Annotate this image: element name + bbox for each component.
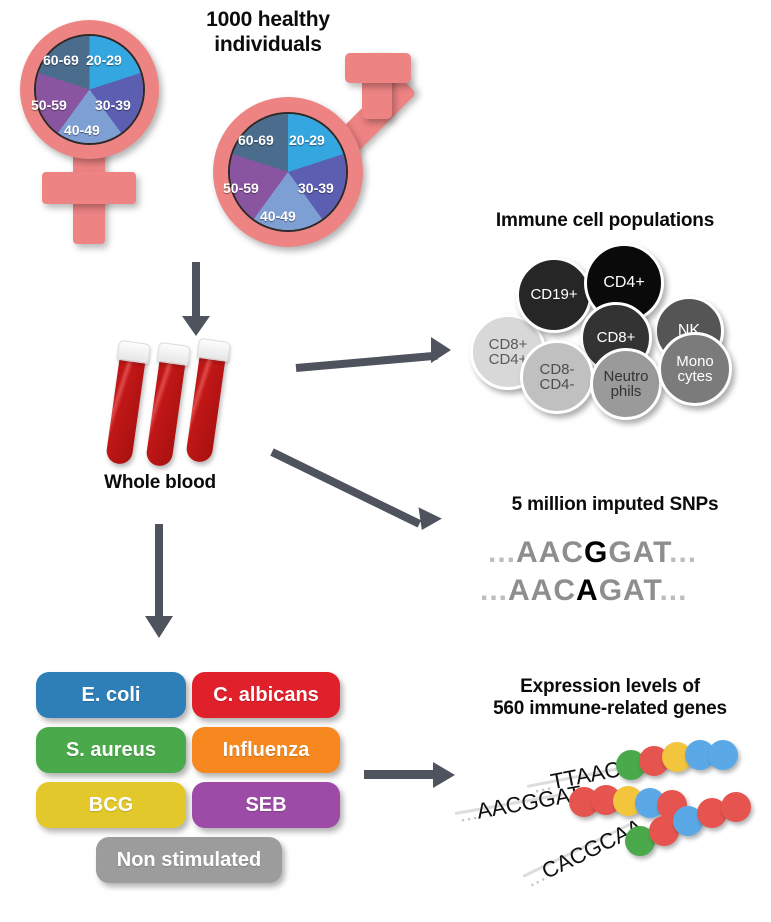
female-pie-label-30-39: 30-39 [95,97,131,113]
immune-cell-line: CD8- [539,362,574,377]
male-pie-label-30-39: 30-39 [298,180,334,196]
stimulation-pill-bcg[interactable]: BCG [36,782,186,828]
expression-bead [721,792,751,822]
snp-trail: ... [659,574,687,607]
immune-cell-line: Mono [676,354,714,369]
immune-cell-cd19p: CD19+ [516,257,592,333]
female-pie-label-50-59: 50-59 [31,97,67,113]
snp-trail: ... [669,536,697,569]
arrow-head [433,762,455,788]
immune-cell-line: CD8+ [597,330,636,345]
immune-cell-line: CD19+ [530,287,577,302]
male-symbol-arrow-head-side [345,53,411,83]
immune-cell-neutrophils: Neutrophils [590,348,662,420]
stimulation-panel: E. coli C. albicans S. aureus Influenza … [32,672,342,892]
female-pie-label-60-69: 60-69 [43,52,79,68]
blood-tube-body [185,349,226,464]
snp-heading: 5 million imputed SNPs [470,494,760,516]
male-pie-label-20-29: 20-29 [289,132,325,148]
snp-sequences: ...AACGGAT... ...AACAGAT... [470,530,760,620]
expression-bead [708,740,738,770]
expression-heading-line1: Expression levels of [455,676,765,698]
immune-cell-line: phils [603,384,648,399]
snp-row: ...AACAGAT... [480,574,687,608]
stimulation-pill-label: S. aureus [66,739,156,762]
female-pie-label-20-29: 20-29 [86,52,122,68]
blood-tube-body [105,351,146,466]
stimulation-pill-label: C. albicans [213,684,319,707]
arrow-shaft [192,262,200,320]
snp-lead: ... [480,574,508,607]
snp-lead: ... [488,536,516,569]
expression-strands: ...TTAACGG ...AACGGAT ...CACGCAA [455,740,771,915]
figure-canvas: 1000 healthy individuals 20-29 30-39 40-… [0,0,771,922]
female-pie-label-40-49: 40-49 [64,122,100,138]
snp-row: ...AACGGAT... [488,536,697,570]
strand-sequence: ...AACGGAT [457,781,584,828]
whole-blood-label: Whole blood [85,472,235,494]
expression-heading: Expression levels of 560 immune-related … [455,676,765,721]
stimulation-pill-label: SEB [245,794,286,817]
stimulation-pill-label: BCG [89,794,133,817]
immune-cell-line: CD4- [539,377,574,392]
immune-cell-line: cytes [676,369,714,384]
immune-cell-line: CD8+ [489,337,528,352]
blood-tube [103,340,148,477]
stimulation-pill-c-albicans[interactable]: C. albicans [192,672,340,718]
male-pie-label-60-69: 60-69 [238,132,274,148]
immune-heading: Immune cell populations [455,210,755,232]
stimulation-pill-e-coli[interactable]: E. coli [36,672,186,718]
snp-prefix: AAC [508,574,576,607]
blood-tube-neck [196,338,230,362]
blood-tube-neck [156,342,190,366]
female-symbol-crossbar [42,172,136,204]
stimulation-pill-label: Non stimulated [117,849,261,872]
blood-tube [183,338,228,475]
male-symbol: 20-29 30-39 40-49 50-59 60-69 [198,50,428,255]
female-symbol: 20-29 30-39 40-49 50-59 60-69 [10,12,190,247]
stimulation-pill-label: Influenza [223,739,310,762]
arrow-head [182,316,210,336]
arrow-head [431,337,451,363]
male-pie-label-40-49: 40-49 [260,208,296,224]
arrow-shaft [296,352,438,372]
cohort-heading-line1: 1000 healthy [168,8,368,33]
whole-blood-tubes [118,340,268,460]
arrow-shaft [364,770,436,779]
stimulation-pill-s-aureus[interactable]: S. aureus [36,727,186,773]
male-pie-label-50-59: 50-59 [223,180,259,196]
immune-cell-cd8n-cd4n: CD8-CD4- [520,340,594,414]
blood-tube [143,342,188,479]
stimulation-pill-seb[interactable]: SEB [192,782,340,828]
stimulation-pill-influenza[interactable]: Influenza [192,727,340,773]
immune-cell-line: CD4+ [603,275,644,291]
snp-prefix: AAC [516,536,584,569]
snp-suffix: GAT [599,574,660,607]
strand-sequence: ...CACGCAA [521,814,647,893]
arrow-head [410,507,442,535]
immune-cell-monocytes: Monocytes [658,332,732,406]
stimulation-pill-non-stimulated[interactable]: Non stimulated [96,837,282,883]
arrow-shaft [155,524,163,620]
arrow-head [145,616,173,638]
snp-variant-allele: A [576,574,599,607]
snp-suffix: GAT [608,536,669,569]
blood-tube-body [145,353,186,468]
stimulation-pill-label: E. coli [82,684,141,707]
snp-variant-allele: G [584,536,608,569]
arrow-shaft [270,448,421,527]
blood-tube-neck [116,340,150,364]
immune-cell-line: Neutro [603,369,648,384]
expression-heading-line2: 560 immune-related genes [455,698,765,720]
immune-cell-cluster: CD8+CD4+ CD19+ CD4+ NK CD8+ CD8-CD4- Neu… [462,240,762,410]
